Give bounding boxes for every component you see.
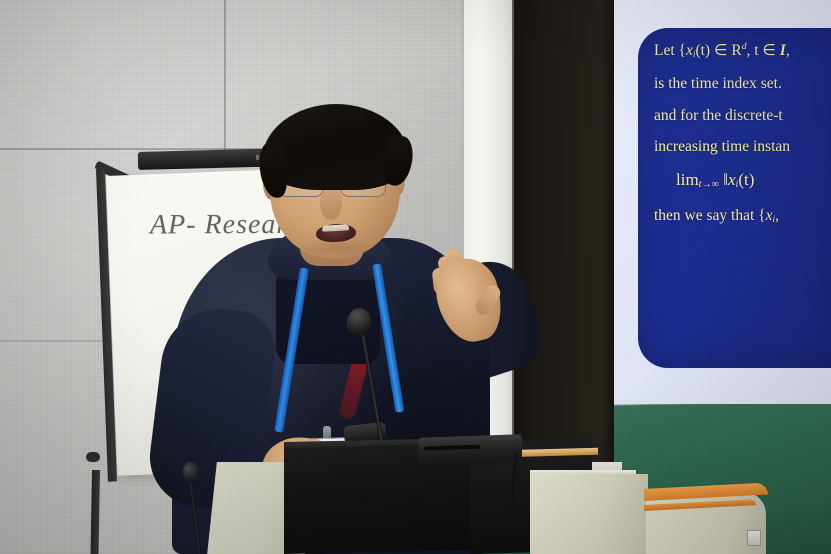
slide-line-6-pre: then we say that { [654, 207, 766, 224]
lectern-side-panel [747, 530, 761, 546]
slide-line-2: is the time index set. [654, 76, 831, 92]
slide-line-1-var: x [686, 42, 693, 59]
slide-line-5-var: x [728, 170, 736, 189]
presenter-hair-right-side [383, 134, 416, 187]
slide-line-5-tail: (t) [738, 170, 754, 189]
lecture-photo-scene: Let {xi(t) ∈ Rd, t ∈ I, is the time inde… [0, 0, 831, 554]
slide-line-1-pre: Let { [654, 42, 686, 59]
slide-line-5-formula: limt→∞ ‖xi(t) [654, 171, 831, 190]
slide-line-1: Let {xi(t) ∈ Rd, t ∈ I, [654, 42, 831, 60]
slide-content-panel: Let {xi(t) ∈ Rd, t ∈ I, is the time inde… [638, 28, 831, 368]
slide-line-3: and for the discrete-t [654, 108, 831, 124]
slide-line-4: increasing time instan [654, 139, 831, 155]
slide-line-6: then we say that {xi, [654, 208, 831, 225]
av-device-slot [424, 445, 480, 451]
slide-limit-subscript: t→∞ [699, 179, 719, 190]
flipchart-knob [86, 452, 100, 462]
slide-line-1-tail: , [786, 42, 790, 59]
slide-limit-operator: lim [676, 170, 699, 189]
slide-line-1-mid: (t) ∈ R [695, 42, 741, 59]
slide-line-1-post: , t ∈ [746, 42, 779, 59]
lectern-body-left [530, 474, 648, 554]
flipchart-leg [91, 470, 100, 554]
slide-line-6-tail: , [775, 207, 779, 224]
projection-screen: Let {xi(t) ∈ Rd, t ∈ I, is the time inde… [614, 0, 831, 404]
slide-line-6-var: x [766, 207, 773, 224]
av-control-device[interactable] [418, 434, 522, 466]
